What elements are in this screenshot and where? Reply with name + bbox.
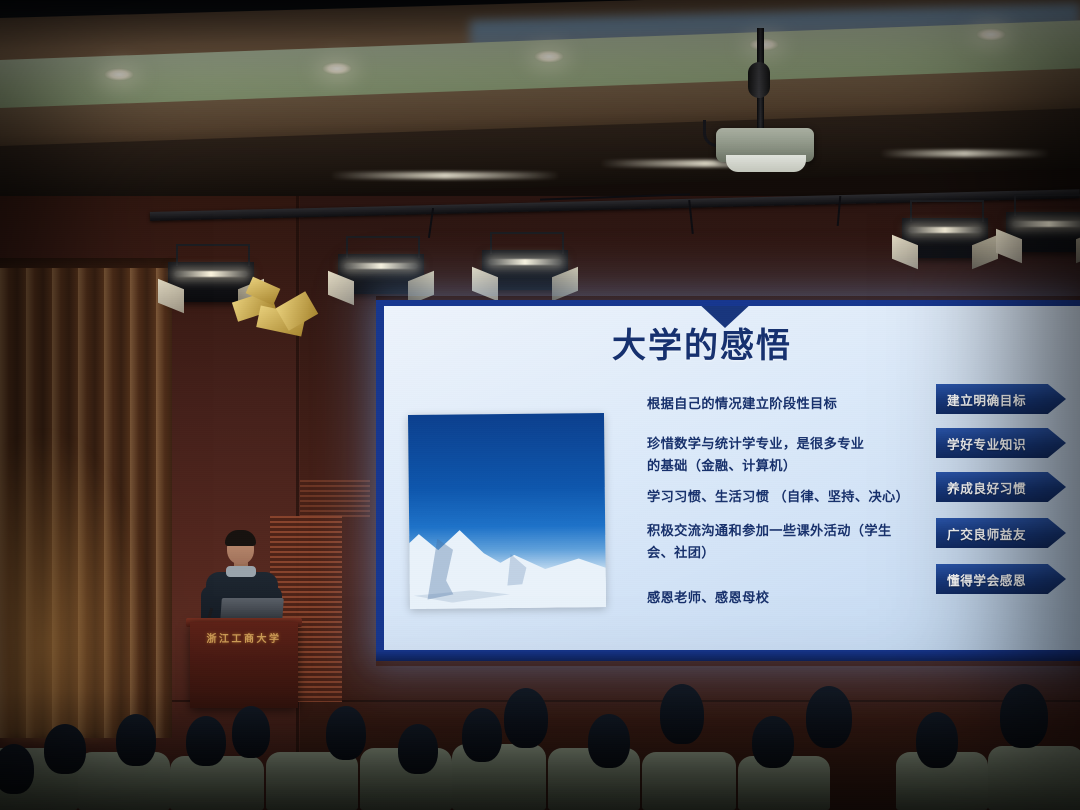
podium-university-name: 浙江工商大学 <box>196 630 292 645</box>
stage-light-fixture <box>902 218 988 258</box>
speaker-hair <box>225 530 256 546</box>
fixture-lamp <box>488 259 562 265</box>
stage-light-fixture <box>482 250 568 290</box>
spot-light-cluster <box>228 252 338 344</box>
audience-head <box>116 714 156 766</box>
projection-screen[interactable]: 大学的感悟 根据自己的情况建立阶段性目标 珍惜数学与统计学专业，是很多专业 的基… <box>384 306 1080 654</box>
audience-head <box>398 724 438 774</box>
fixture-yoke <box>1014 194 1080 216</box>
audience-head <box>0 744 34 794</box>
stage-light-fixture <box>1006 212 1080 252</box>
fixture-barn-door <box>1076 229 1080 264</box>
curtain-highlight <box>0 430 150 740</box>
projector-lens-housing <box>726 155 806 172</box>
audience-head <box>660 684 704 744</box>
ceiling-light-strip <box>330 172 560 179</box>
fixture-lamp <box>908 227 982 233</box>
auditorium-photo: 大学的感悟 根据自己的情况建立阶段性目标 珍惜数学与统计学专业，是很多专业 的基… <box>0 0 1080 810</box>
audience-head <box>326 706 366 760</box>
audience-head <box>232 706 270 758</box>
acoustic-slat-panel <box>300 480 370 520</box>
ceiling-downlight <box>749 38 779 51</box>
audience-head <box>504 688 548 748</box>
fixture-yoke <box>346 236 420 258</box>
screen-bottom-rim <box>376 650 1080 661</box>
audience-head <box>186 716 226 766</box>
slide-body-line: 感恩老师、感恩母校 <box>647 588 927 608</box>
audience-head <box>916 712 958 768</box>
ceiling-light-strip <box>880 150 1050 157</box>
audience-head <box>588 714 630 768</box>
audience-head <box>806 686 852 748</box>
audience-seat <box>266 752 358 810</box>
fixture-yoke <box>910 200 984 222</box>
banner-label: 养成良好习惯 <box>936 478 1026 497</box>
audience-head <box>462 708 502 762</box>
slide-banner-item[interactable]: 建立明确目标 <box>936 384 1066 414</box>
slide-body-line: 的基础（金融、计算机） <box>647 456 927 476</box>
banner-label: 建立明确目标 <box>936 390 1026 409</box>
ceiling-downlight <box>104 68 134 81</box>
fixture-lamp <box>344 263 418 269</box>
slide-body-line: 珍惜数学与统计学专业，是很多专业 <box>647 434 927 454</box>
audience-head <box>1000 684 1048 748</box>
banner-label: 广交良师益友 <box>936 524 1026 543</box>
ceiling-downlight <box>976 28 1006 41</box>
fixture-yoke <box>490 232 564 254</box>
ceiling-downlight <box>322 62 352 75</box>
audience-head <box>44 724 86 774</box>
banner-label: 懂得学会感恩 <box>936 570 1026 589</box>
slide-body-line: 积极交流沟通和参加一些课外活动（学生 <box>647 521 947 541</box>
slide-banner-item[interactable]: 懂得学会感恩 <box>936 564 1066 594</box>
slide-banner-item[interactable]: 学好专业知识 <box>936 428 1066 458</box>
slide-title: 大学的感悟 <box>612 318 912 367</box>
slide-banner-item[interactable]: 广交良师益友 <box>936 518 1066 548</box>
audience-head <box>752 716 794 768</box>
slide-body-line: 学习习惯、生活习惯 （自律、坚持、决心） <box>647 487 947 507</box>
slide-body-line: 根据自己的情况建立阶段性目标 <box>647 394 927 414</box>
slide-body-line: 会、社团） <box>647 543 927 563</box>
fixture-lamp <box>1012 221 1080 227</box>
slide-banner-item[interactable]: 养成良好习惯 <box>936 472 1066 502</box>
audience-seat <box>170 756 264 810</box>
audience-seat <box>642 752 736 810</box>
projector-mount-knob <box>748 62 770 98</box>
stage-light-fixture <box>338 254 424 294</box>
audience-seat <box>988 746 1080 810</box>
speaker-collar <box>226 566 256 577</box>
banner-label: 学好专业知识 <box>936 434 1026 453</box>
snow-mountain-photo <box>408 413 606 609</box>
ceiling-downlight <box>534 50 564 63</box>
